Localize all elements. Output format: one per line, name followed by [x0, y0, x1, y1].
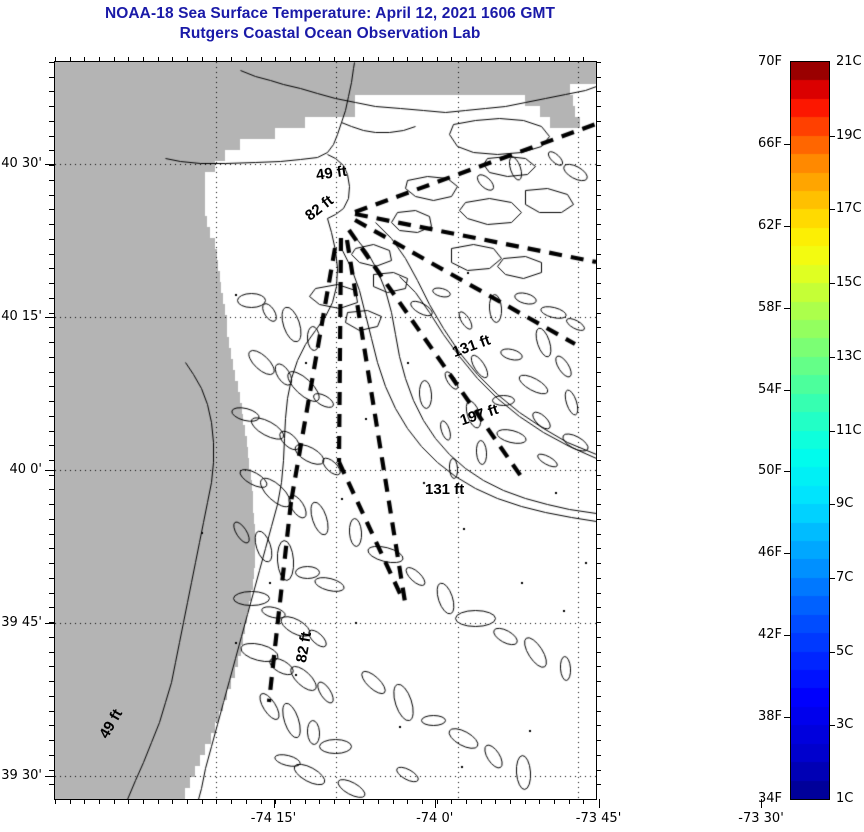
axis-tick [596, 254, 601, 255]
axis-tick [596, 77, 601, 78]
colorbar-c-label-6: 9C [836, 496, 853, 511]
y-axis-label-3: 39 45' [0, 615, 42, 630]
axis-tick [481, 57, 482, 62]
axis-tick [49, 504, 54, 505]
colorbar-f-label-3: 58F [746, 300, 782, 315]
colorbar-f-label-1: 66F [746, 136, 782, 151]
axis-tick [596, 445, 601, 446]
axis-tick [435, 799, 436, 808]
axis-tick [305, 799, 306, 804]
axis-tick [466, 57, 467, 62]
axis-tick [596, 195, 601, 196]
axis-tick [49, 313, 54, 314]
axis-tick [45, 623, 54, 624]
axis-tick [596, 519, 601, 520]
axis-tick [49, 180, 54, 181]
axis-tick [275, 57, 276, 62]
colorbar-f-tick [784, 144, 790, 145]
y-axis-label-2: 40 0' [0, 462, 42, 477]
axis-tick [596, 460, 601, 461]
axis-tick [49, 62, 54, 63]
axis-tick [246, 57, 247, 62]
axis-tick [158, 57, 159, 62]
axis-tick [596, 106, 601, 107]
colorbar-c-tick [829, 431, 835, 432]
colorbar-c-tick [829, 209, 835, 210]
axis-tick [231, 57, 232, 62]
depth-label-4: 131 ft [425, 481, 464, 498]
colorbar-c-label-0: 21C [836, 54, 862, 69]
colorbar-f-label-7: 42F [746, 627, 782, 642]
axis-tick [231, 799, 232, 804]
axis-tick [55, 799, 56, 804]
axis-tick [49, 283, 54, 284]
axis-tick [216, 799, 217, 804]
axis-tick [216, 57, 217, 62]
axis-tick [596, 136, 601, 137]
axis-tick [49, 327, 54, 328]
axis-tick [187, 57, 188, 62]
axis-tick [45, 470, 54, 471]
colorbar-f-tick [784, 226, 790, 227]
axis-tick [583, 799, 584, 804]
axis-tick [49, 91, 54, 92]
axis-tick [49, 770, 54, 771]
axis-tick [451, 57, 452, 62]
colorbar-c-label-2: 17C [836, 201, 862, 216]
colorbar-c-tick [829, 357, 835, 358]
axis-tick [334, 57, 335, 62]
axis-tick [596, 504, 601, 505]
axis-tick [510, 57, 511, 62]
colorbar-f-tick [784, 553, 790, 554]
axis-tick [49, 652, 54, 653]
axis-tick [49, 593, 54, 594]
axis-tick [45, 317, 54, 318]
axis-tick [596, 711, 601, 712]
title-line-1: NOAA-18 Sea Surface Temperature: April 1… [0, 4, 660, 24]
axis-tick [596, 696, 601, 697]
axis-tick [305, 57, 306, 62]
colorbar-c-label-3: 15C [836, 275, 862, 290]
axis-tick [49, 519, 54, 520]
axis-tick [49, 401, 54, 402]
x-axis-label-3: -73 30' [727, 811, 795, 826]
axis-tick [393, 799, 394, 804]
axis-tick [49, 460, 54, 461]
axis-tick [596, 770, 601, 771]
axis-tick [596, 150, 601, 151]
axis-tick [451, 799, 452, 804]
temperature-colorbar[interactable] [790, 61, 830, 800]
axis-tick [407, 57, 408, 62]
axis-tick [596, 489, 601, 490]
axis-tick [202, 57, 203, 62]
colorbar-f-tick [784, 471, 790, 472]
axis-tick [583, 57, 584, 62]
axis-tick [596, 180, 601, 181]
colorbar-c-label-4: 13C [836, 349, 862, 364]
axis-tick [114, 799, 115, 804]
axis-tick [596, 475, 601, 476]
axis-tick [49, 298, 54, 299]
axis-tick [114, 57, 115, 62]
axis-tick [596, 298, 601, 299]
axis-tick [49, 254, 54, 255]
axis-tick [290, 799, 291, 804]
colorbar-f-label-6: 46F [746, 545, 782, 560]
axis-tick [143, 57, 144, 62]
axis-tick [143, 799, 144, 804]
axis-tick [378, 57, 379, 62]
axis-tick [596, 209, 601, 210]
axis-tick [481, 799, 482, 804]
axis-tick [596, 268, 601, 269]
axis-tick [49, 740, 54, 741]
colorbar-f-tick [784, 308, 790, 309]
axis-tick [49, 431, 54, 432]
axis-tick [49, 755, 54, 756]
axis-tick [187, 799, 188, 804]
axis-tick [422, 799, 423, 804]
axis-tick [202, 799, 203, 804]
colorbar-c-tick [829, 504, 835, 505]
axis-tick [349, 799, 350, 804]
axis-tick [599, 799, 600, 808]
axis-tick [49, 209, 54, 210]
axis-tick [596, 224, 601, 225]
axis-tick [596, 681, 601, 682]
colorbar-f-label-4: 54F [746, 382, 782, 397]
colorbar-f-label-0: 70F [746, 54, 782, 69]
axis-tick [45, 776, 54, 777]
axis-tick [172, 57, 173, 62]
axis-tick [363, 57, 364, 62]
axis-tick [596, 578, 601, 579]
axis-tick [569, 799, 570, 804]
axis-tick [525, 799, 526, 804]
axis-tick [596, 593, 601, 594]
colorbar-canvas [791, 62, 829, 799]
axis-tick [49, 637, 54, 638]
colorbar-c-label-10: 1C [836, 791, 853, 806]
axis-tick [437, 799, 438, 804]
colorbar-c-label-9: 3C [836, 717, 853, 732]
axis-tick [596, 607, 601, 608]
axis-tick [49, 666, 54, 667]
axis-tick [596, 548, 601, 549]
y-axis-label-1: 40 15' [0, 309, 42, 324]
axis-tick [49, 136, 54, 137]
axis-tick [596, 239, 601, 240]
axis-tick [363, 799, 364, 804]
x-axis-label-1: -74 0' [401, 811, 469, 826]
axis-tick [495, 57, 496, 62]
axis-tick [554, 799, 555, 804]
axis-tick [596, 91, 601, 92]
colorbar-f-label-8: 38F [746, 709, 782, 724]
axis-tick [407, 799, 408, 804]
axis-tick [596, 401, 601, 402]
colorbar-c-tick [829, 578, 835, 579]
axis-tick [49, 534, 54, 535]
colorbar-c-label-7: 7C [836, 570, 853, 585]
x-axis-label-2: -73 45' [565, 811, 633, 826]
colorbar-c-label-1: 19C [836, 128, 862, 143]
axis-tick [596, 416, 601, 417]
axis-tick [596, 121, 601, 122]
axis-tick [261, 799, 262, 804]
axis-tick [596, 283, 601, 284]
axis-tick [158, 799, 159, 804]
axis-tick [49, 696, 54, 697]
title-line-2: Rutgers Coastal Ocean Observation Lab [0, 24, 660, 44]
axis-tick [55, 57, 56, 62]
axis-tick [596, 386, 601, 387]
page-title: NOAA-18 Sea Surface Temperature: April 1… [0, 4, 660, 44]
axis-tick [319, 57, 320, 62]
axis-tick [290, 57, 291, 62]
colorbar-f-label-5: 50F [746, 463, 782, 478]
axis-tick [49, 195, 54, 196]
axis-tick [49, 77, 54, 78]
axis-tick [49, 784, 54, 785]
axis-tick [554, 57, 555, 62]
axis-tick [596, 784, 601, 785]
colorbar-f-tick [784, 390, 790, 391]
axis-tick [128, 799, 129, 804]
axis-tick [596, 666, 601, 667]
y-axis-label-4: 39 30' [0, 768, 42, 783]
axis-tick [261, 57, 262, 62]
axis-tick [596, 431, 601, 432]
axis-tick [49, 711, 54, 712]
axis-tick [49, 416, 54, 417]
axis-tick [49, 548, 54, 549]
axis-tick [334, 799, 335, 804]
colorbar-c-tick [829, 283, 835, 284]
axis-tick [596, 622, 601, 623]
axis-tick [84, 799, 85, 804]
axis-tick [49, 386, 54, 387]
axis-tick [596, 740, 601, 741]
axis-tick [422, 57, 423, 62]
axis-tick [596, 534, 601, 535]
axis-tick [49, 150, 54, 151]
axis-tick [49, 224, 54, 225]
axis-tick [99, 799, 100, 804]
axis-tick [569, 57, 570, 62]
axis-tick [319, 799, 320, 804]
y-axis-label-0: 40 30' [0, 156, 42, 171]
axis-tick [596, 637, 601, 638]
axis-tick [49, 578, 54, 579]
axis-tick [49, 268, 54, 269]
axis-tick [378, 799, 379, 804]
axis-tick [525, 57, 526, 62]
axis-tick [274, 799, 275, 808]
axis-tick [49, 563, 54, 564]
colorbar-f-label-9: 34F [746, 791, 782, 806]
axis-tick [349, 57, 350, 62]
x-axis-label-0: -74 15' [240, 811, 308, 826]
axis-tick [596, 62, 601, 63]
axis-tick [437, 57, 438, 62]
axis-tick [539, 57, 540, 62]
axis-tick [49, 121, 54, 122]
axis-tick [49, 445, 54, 446]
axis-tick [596, 652, 601, 653]
colorbar-c-label-8: 5C [836, 644, 853, 659]
colorbar-c-tick [829, 136, 835, 137]
axis-tick [49, 106, 54, 107]
axis-tick [49, 342, 54, 343]
axis-tick [49, 725, 54, 726]
axis-tick [49, 239, 54, 240]
axis-tick [49, 475, 54, 476]
axis-tick [275, 799, 276, 804]
axis-tick [596, 372, 601, 373]
colorbar-f-label-2: 62F [746, 218, 782, 233]
axis-tick [596, 327, 601, 328]
axis-tick [596, 313, 601, 314]
axis-tick [596, 563, 601, 564]
axis-tick [172, 799, 173, 804]
colorbar-c-tick [829, 652, 835, 653]
axis-tick [45, 164, 54, 165]
axis-tick [466, 799, 467, 804]
axis-tick [49, 357, 54, 358]
axis-tick [84, 57, 85, 62]
axis-tick [596, 342, 601, 343]
colorbar-c-label-5: 11C [836, 423, 862, 438]
axis-tick [70, 799, 71, 804]
axis-tick [49, 372, 54, 373]
axis-tick [49, 681, 54, 682]
axis-tick [49, 489, 54, 490]
axis-tick [596, 357, 601, 358]
axis-tick [596, 755, 601, 756]
axis-tick [596, 725, 601, 726]
axis-tick [246, 799, 247, 804]
axis-tick [70, 57, 71, 62]
axis-tick [510, 799, 511, 804]
axis-tick [128, 57, 129, 62]
axis-tick [99, 57, 100, 62]
axis-tick [49, 607, 54, 608]
axis-tick [49, 165, 54, 166]
axis-tick [393, 57, 394, 62]
colorbar-f-tick [784, 635, 790, 636]
axis-tick [596, 165, 601, 166]
colorbar-c-tick [829, 725, 835, 726]
axis-tick [539, 799, 540, 804]
axis-tick [495, 799, 496, 804]
colorbar-f-tick [784, 717, 790, 718]
